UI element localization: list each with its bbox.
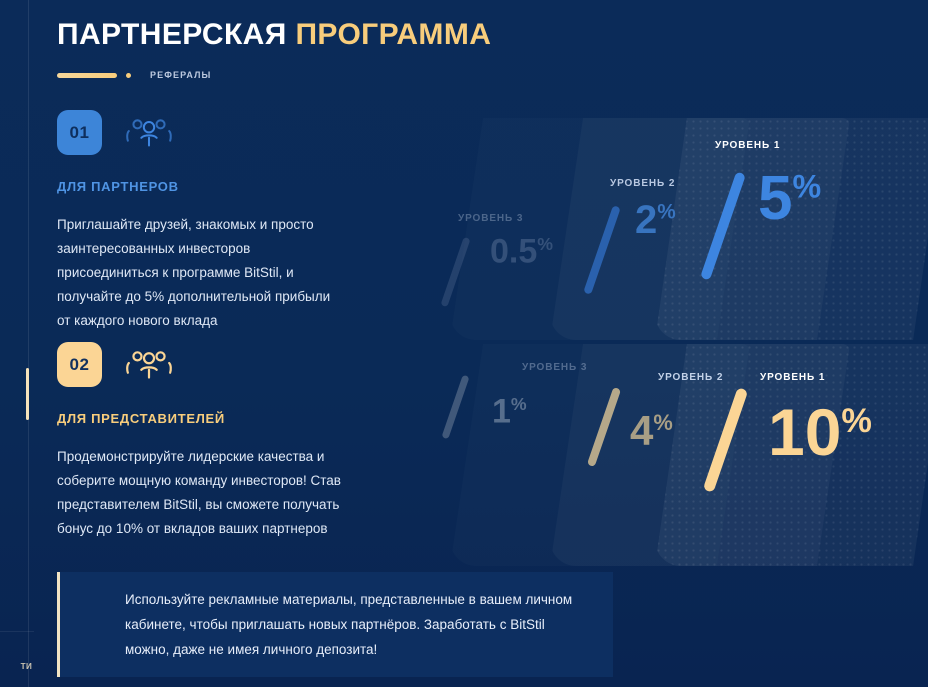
level-value-3: 1%: [492, 396, 527, 428]
page-title-accent: ПРОГРАММА: [295, 18, 491, 51]
card-number-badge: 02: [57, 342, 102, 387]
eyebrow-dot-icon: [126, 73, 131, 78]
rail-hairline: [0, 631, 34, 632]
edge-text-fragment: ТИ: [21, 662, 33, 670]
page-title-main: ПАРТНЕРСКАЯ: [57, 18, 287, 51]
level-slash-3: [441, 375, 469, 440]
breadcrumb-label: РЕФЕРАЛЫ: [150, 70, 211, 80]
card-title: ДЛЯ ПРЕДСТАВИТЕЛЕЙ: [57, 411, 417, 426]
level-value-1: 10%: [768, 402, 872, 463]
card-title: ДЛЯ ПАРТНЕРОВ: [57, 179, 417, 194]
level-value-3: 0.5%: [490, 236, 553, 268]
card-header: 02: [57, 342, 417, 387]
page-title: ПАРТНЕРСКАЯ ПРОГРАММА: [57, 18, 491, 51]
diagram-representative-levels: УРОВЕНЬ 3 1% УРОВЕНЬ 2 4% УРОВЕНЬ 1 10%: [430, 344, 928, 566]
promo-callout: Используйте рекламные материалы, предста…: [57, 572, 613, 677]
level-label-2: УРОВЕНЬ 2: [658, 372, 723, 383]
partner-program-page: ТИ ПАРТНЕРСКАЯ ПРОГРАММА РЕФЕРАЛЫ 01: [0, 0, 928, 687]
people-group-icon: [124, 116, 174, 150]
eyebrow-bar-icon: [57, 73, 117, 78]
page-rail-divider: [28, 0, 29, 687]
level-label-2: УРОВЕНЬ 2: [610, 178, 675, 189]
breadcrumb: РЕФЕРАЛЫ: [57, 70, 211, 80]
card-partners: 01 ДЛЯ ПАРТНЕРОВ Приглашайте друзей, зна…: [57, 110, 417, 333]
level-label-3: УРОВЕНЬ 3: [522, 362, 587, 373]
level-label-1: УРОВЕНЬ 1: [760, 372, 825, 383]
card-body-text: Продемонстрируйте лидерские качества и с…: [57, 445, 357, 541]
promo-callout-text: Используйте рекламные материалы, предста…: [125, 587, 591, 662]
card-representatives: 02 ДЛЯ ПРЕДСТАВИТЕЛЕЙ Продемонстрируйте …: [57, 342, 417, 541]
level-value-2: 2%: [635, 202, 676, 239]
level-value-2: 4%: [630, 412, 673, 451]
card-number-badge: 01: [57, 110, 102, 155]
level-label-3: УРОВЕНЬ 3: [458, 213, 523, 224]
diagram-partner-levels: УРОВЕНЬ 3 0.5% УРОВЕНЬ 2 2% УРОВЕНЬ 1 5%: [430, 118, 928, 340]
people-group-icon: [124, 348, 174, 382]
card-header: 01: [57, 110, 417, 155]
vertical-scrollbar-thumb[interactable]: [26, 368, 29, 420]
level-value-1: 5%: [758, 170, 821, 227]
level-label-1: УРОВЕНЬ 1: [715, 140, 780, 151]
card-body-text: Приглашайте друзей, знакомых и просто за…: [57, 213, 347, 333]
